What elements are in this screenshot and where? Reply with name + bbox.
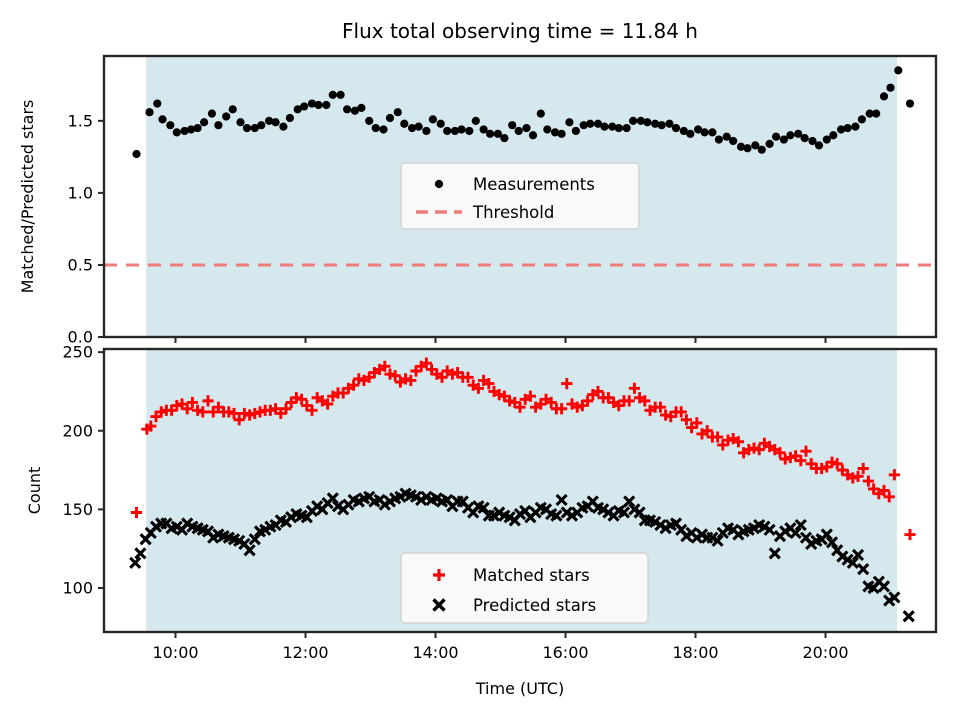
marker-dot: [672, 124, 680, 132]
y-axis-label: Matched/Predicted stars: [18, 100, 37, 294]
marker-dot: [145, 108, 153, 116]
y-tick-label: 200: [62, 421, 93, 440]
marker-dot: [743, 144, 751, 152]
legend-label: Measurements: [473, 175, 595, 194]
y-tick-label: 250: [62, 343, 93, 362]
marker-dot: [153, 99, 161, 107]
marker-dot: [872, 110, 880, 118]
x-tick-label: 16:00: [542, 643, 588, 662]
marker-dot: [643, 118, 651, 126]
figure-canvas: Flux total observing time = 11.84 h0.00.…: [0, 0, 960, 720]
y-tick-label: 150: [62, 500, 93, 519]
marker-dot: [394, 108, 402, 116]
marker-dot: [880, 92, 888, 100]
marker-dot: [858, 115, 866, 123]
marker-dot: [279, 123, 287, 131]
marker-dot: [686, 130, 694, 138]
y-tick-label: 100: [62, 578, 93, 597]
marker-dot: [529, 131, 537, 139]
marker-dot: [515, 127, 523, 135]
chart-svg: Flux total observing time = 11.84 h0.00.…: [0, 0, 960, 720]
x-tick-label: 14:00: [412, 643, 458, 662]
marker-dot: [886, 84, 894, 92]
marker-dot: [522, 124, 530, 132]
marker-dot: [894, 66, 902, 74]
marker-dot: [173, 128, 181, 136]
marker-dot: [229, 105, 237, 113]
x-axis-label: Time (UTC): [475, 679, 564, 698]
marker-dot: [786, 131, 794, 139]
marker-dot: [457, 125, 465, 133]
y-axis-label: Count: [25, 467, 44, 515]
marker-dot: [508, 121, 516, 129]
marker-dot: [365, 117, 373, 125]
marker-cross: [904, 611, 914, 621]
marker-dot: [422, 127, 430, 135]
marker-dot: [257, 121, 265, 129]
legend-top-panel: MeasurementsThreshold: [401, 163, 639, 229]
marker-plus: [904, 529, 915, 540]
marker-dot: [243, 124, 251, 132]
marker-dot: [772, 133, 780, 141]
marker-dot: [300, 102, 308, 110]
marker-dot: [208, 110, 216, 118]
marker-dot: [844, 124, 852, 132]
marker-dot: [400, 120, 408, 128]
marker-plus: [131, 507, 142, 518]
marker-dot: [486, 130, 494, 138]
marker-dot: [437, 120, 445, 128]
x-tick-label: 12:00: [282, 643, 328, 662]
marker-dot: [194, 124, 202, 132]
marker-dot: [586, 120, 594, 128]
legend-bottom-panel: Matched starsPredicted stars: [401, 553, 648, 623]
marker-dot: [465, 127, 473, 135]
marker-dot: [629, 117, 637, 125]
y-tick-label: 0.5: [68, 255, 93, 274]
marker-dot: [158, 115, 166, 123]
marker-dot: [343, 105, 351, 113]
marker-dot: [472, 117, 480, 125]
marker-dot: [829, 131, 837, 139]
marker-dot: [386, 114, 394, 122]
marker-dot: [623, 124, 631, 132]
marker-dot: [658, 121, 666, 129]
x-tick-label: 18:00: [672, 643, 718, 662]
marker-dot: [729, 137, 737, 145]
marker-dot: [758, 146, 766, 154]
marker-dot: [200, 118, 208, 126]
marker-dot: [379, 125, 387, 133]
marker-dot: [766, 140, 774, 148]
marker-dot: [314, 101, 322, 109]
marker-dot: [815, 141, 823, 149]
x-tick-label: 20:00: [802, 643, 848, 662]
legend-label: Matched stars: [473, 566, 590, 585]
marker-dot: [708, 128, 716, 136]
y-tick-label: 1.0: [68, 183, 93, 202]
marker-dot: [415, 123, 423, 131]
marker-dot: [272, 118, 280, 126]
marker-dot: [429, 115, 437, 123]
x-tick-label: 10:00: [152, 643, 198, 662]
marker-dot: [543, 125, 551, 133]
marker-dot: [222, 112, 230, 120]
marker-dot: [558, 130, 566, 138]
marker-dot: [701, 128, 709, 136]
marker-dot: [801, 134, 809, 142]
chart-title: Flux total observing time = 11.84 h: [342, 19, 698, 43]
marker-dot: [615, 124, 623, 132]
marker-dot: [372, 124, 380, 132]
marker-dot: [236, 118, 244, 126]
marker-dot: [322, 101, 330, 109]
marker-dot: [166, 121, 174, 129]
marker-dot: [286, 114, 294, 122]
y-tick-label: 1.5: [68, 111, 93, 130]
marker-cross: [130, 558, 140, 568]
marker-dot: [906, 99, 914, 107]
marker-dot: [600, 123, 608, 131]
legend-marker-dot: [435, 180, 443, 188]
legend-label: Threshold: [472, 203, 554, 222]
marker-dot: [329, 91, 337, 99]
marker-dot: [443, 127, 451, 135]
marker-dot: [357, 104, 365, 112]
legend-label: Predicted stars: [473, 596, 596, 615]
marker-dot: [500, 134, 508, 142]
marker-dot: [537, 110, 545, 118]
marker-cross: [135, 548, 145, 558]
marker-dot: [337, 91, 345, 99]
marker-dot: [565, 118, 573, 126]
marker-dot: [132, 150, 140, 158]
marker-dot: [715, 135, 723, 143]
marker-dot: [214, 121, 222, 129]
marker-dot: [572, 127, 580, 135]
marker-dot: [851, 123, 859, 131]
